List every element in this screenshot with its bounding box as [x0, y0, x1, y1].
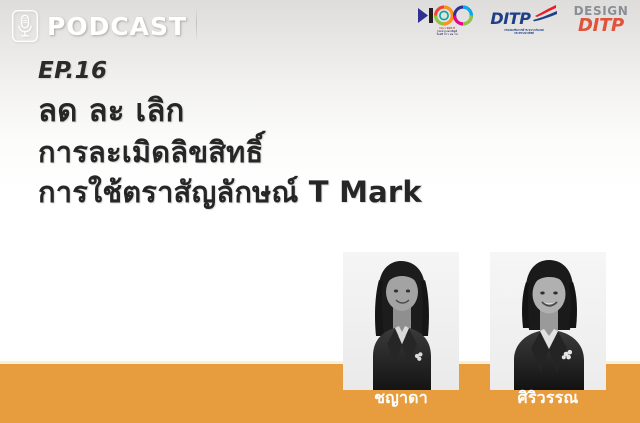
logo-ditp-caption: กรมส่งเสริมการค้าระหว่างประเทศ กระทรวงพา… [504, 29, 543, 36]
logo-group: กรมฯ 100 ปี กระทรวงพาณิชย์ ร้อยปี ก้าว ต… [414, 4, 632, 37]
episode-number: EP.16 [38, 58, 618, 85]
logo-ditp-mark: DITP [490, 5, 557, 27]
swoosh-icon [531, 4, 558, 27]
header-bar: PODCAST [0, 0, 640, 52]
avatar [490, 252, 606, 390]
logo-ditp-caption-line2: กระทรวงพาณิชย์ [504, 32, 543, 36]
host-photo-frame-1 [343, 252, 459, 390]
podcast-label: PODCAST [47, 14, 187, 39]
logo-100-caption: กรมฯ 100 ปี กระทรวงพาณิชย์ ร้อยปี ก้าว ต… [437, 27, 458, 37]
logo-100-mark [416, 4, 478, 26]
header-divider [196, 8, 197, 42]
podcast-cover: PODCAST [0, 0, 640, 423]
title-line-1: ลด ละ เลิก [38, 91, 618, 131]
logo-ditp-wordmark: DITP [490, 11, 530, 27]
logo-ditp: DITP กรมส่งเสริมการค้าระหว่างประเทศ กระท… [489, 5, 559, 36]
host-name-2: ศิริวรรณ [473, 388, 623, 407]
title-line-2: การละเมิดลิขสิทธิ์ [38, 133, 618, 171]
host-photo-frame-2 [490, 252, 606, 390]
logo-design-ditp: DESIGN DITP [568, 5, 632, 36]
podcast-brand: PODCAST [12, 10, 187, 42]
microphone-icon [12, 10, 38, 42]
host-name-1: ชญาดา [326, 388, 476, 407]
logo-100-caption-line3: ร้อยปี ก้าว ต่อ ไป [437, 33, 458, 36]
avatar [343, 252, 459, 390]
logo-design-bottom-word: DITP [578, 17, 624, 36]
title-line-3: การใช้ตราสัญลักษณ์ T Mark [38, 173, 618, 211]
logo-100-years: กรมฯ 100 ปี กระทรวงพาณิชย์ ร้อยปี ก้าว ต… [414, 4, 480, 37]
title-block: EP.16 ลด ละ เลิก การละเมิดลิขสิทธิ์ การใ… [38, 58, 618, 211]
